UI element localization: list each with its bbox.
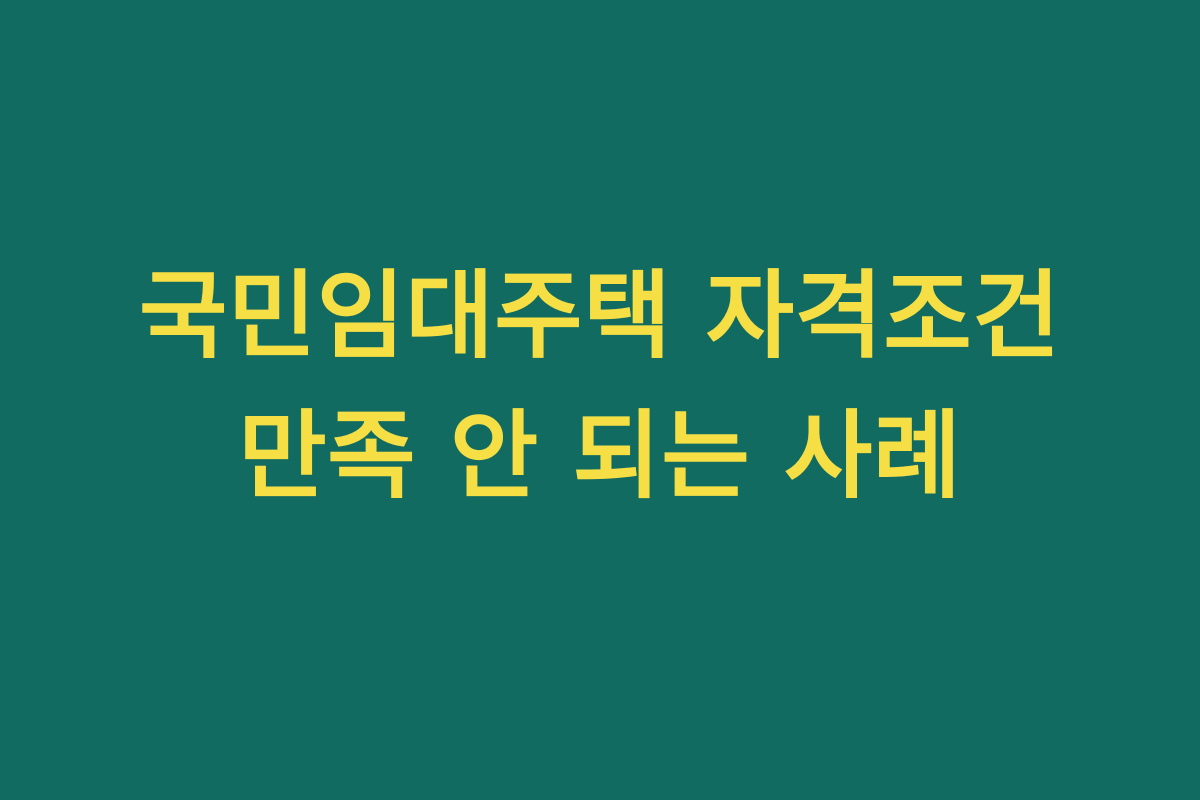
title-line-2: 만족 안 되는 사례 <box>0 386 1200 526</box>
title-block: 국민임대주택 자격조건 만족 안 되는 사례 <box>0 246 1200 526</box>
thumbnail-card: 국민임대주택 자격조건 만족 안 되는 사례 <box>0 0 1200 800</box>
title-line-1: 국민임대주택 자격조건 <box>0 246 1200 386</box>
